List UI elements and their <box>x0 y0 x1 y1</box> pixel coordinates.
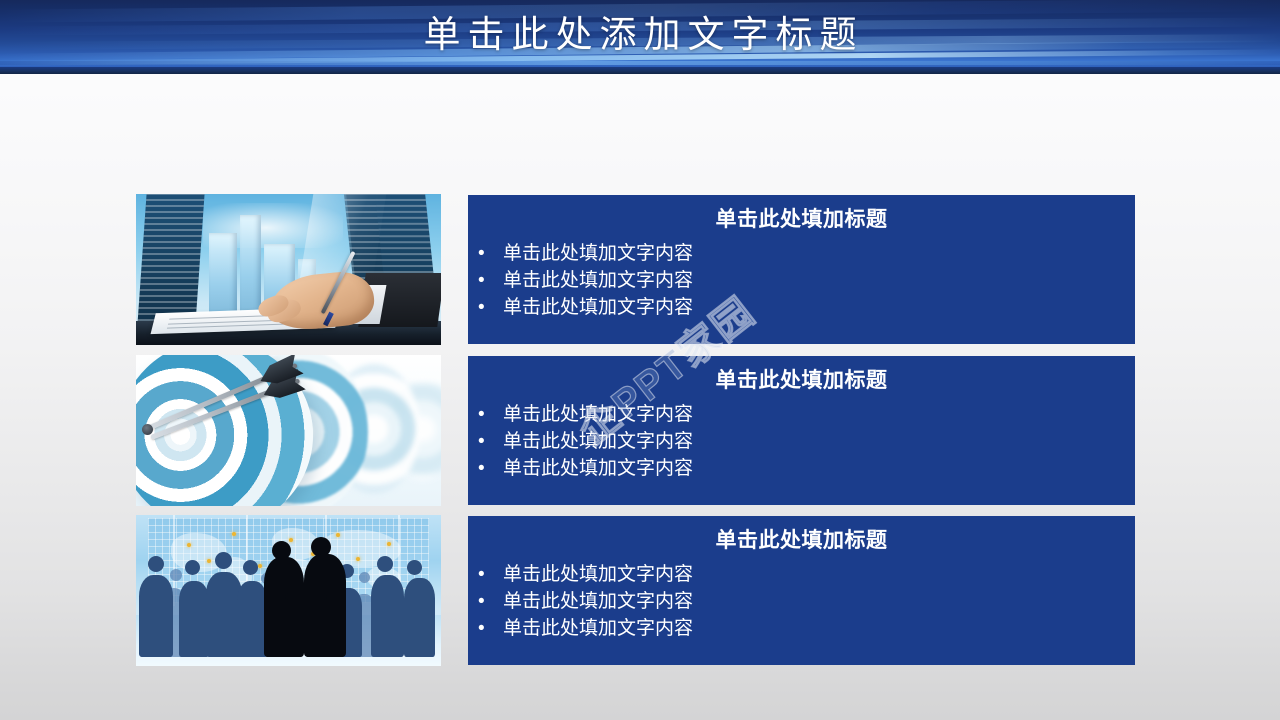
target-photo-illustration <box>136 355 441 506</box>
bullet-marker-icon: • <box>478 588 485 615</box>
bullet-marker-icon: • <box>478 428 485 455</box>
bullet-marker-icon: • <box>478 240 485 267</box>
list-item: • 单击此处填加文字内容 <box>468 240 1135 267</box>
bullet-marker-icon: • <box>478 615 485 642</box>
list-item: • 单击此处填加文字内容 <box>468 401 1135 428</box>
slide-canvas: 单击此处添加文字标题 <box>0 0 1280 720</box>
header-bottom-band <box>0 67 1280 74</box>
list-item: • 单击此处填加文字内容 <box>468 455 1135 482</box>
bullet-marker-icon: • <box>478 267 485 294</box>
skyline-photo-illustration <box>136 194 441 345</box>
panel-title: 单击此处填加标题 <box>468 367 1135 395</box>
list-item-label: 单击此处填加文字内容 <box>503 431 693 452</box>
content-row: 单击此处填加标题 • 单击此处填加文字内容 • 单击此处填加文字内容 • 单击此… <box>136 515 1135 666</box>
list-item: • 单击此处填加文字内容 <box>468 615 1135 642</box>
list-item-label: 单击此处填加文字内容 <box>503 270 693 291</box>
list-item-label: 单击此处填加文字内容 <box>503 458 693 479</box>
bullet-marker-icon: • <box>478 401 485 428</box>
content-row: 单击此处填加标题 • 单击此处填加文字内容 • 单击此处填加文字内容 • 单击此… <box>136 355 1135 506</box>
list-item: • 单击此处填加文字内容 <box>468 294 1135 321</box>
panel-bullet-list: • 单击此处填加文字内容 • 单击此处填加文字内容 • 单击此处填加文字内容 <box>468 561 1135 642</box>
bullet-marker-icon: • <box>478 561 485 588</box>
list-item-label: 单击此处填加文字内容 <box>503 564 693 585</box>
panel-bullet-list: • 单击此处填加文字内容 • 单击此处填加文字内容 • 单击此处填加文字内容 <box>468 401 1135 482</box>
content-panel[interactable]: 单击此处填加标题 • 单击此处填加文字内容 • 单击此处填加文字内容 • 单击此… <box>468 195 1135 344</box>
header-light-streak <box>0 61 1280 65</box>
list-item: • 单击此处填加文字内容 <box>468 428 1135 455</box>
list-item-label: 单击此处填加文字内容 <box>503 297 693 318</box>
row-image-arrows-target[interactable] <box>136 355 441 506</box>
bullet-marker-icon: • <box>478 455 485 482</box>
list-item-label: 单击此处填加文字内容 <box>503 618 693 639</box>
list-item: • 单击此处填加文字内容 <box>468 267 1135 294</box>
list-item: • 单击此处填加文字内容 <box>468 561 1135 588</box>
list-item-label: 单击此处填加文字内容 <box>503 404 693 425</box>
bullet-marker-icon: • <box>478 294 485 321</box>
business-people-photo-illustration <box>136 515 441 666</box>
list-item-label: 单击此处填加文字内容 <box>503 591 693 612</box>
row-image-business-people[interactable] <box>136 515 441 666</box>
content-panel[interactable]: 单击此处填加标题 • 单击此处填加文字内容 • 单击此处填加文字内容 • 单击此… <box>468 356 1135 505</box>
panel-bullet-list: • 单击此处填加文字内容 • 单击此处填加文字内容 • 单击此处填加文字内容 <box>468 240 1135 321</box>
page-title: 单击此处添加文字标题 <box>0 12 1280 58</box>
panel-title: 单击此处填加标题 <box>468 206 1135 234</box>
content-row: 单击此处填加标题 • 单击此处填加文字内容 • 单击此处填加文字内容 • 单击此… <box>136 194 1135 345</box>
panel-title: 单击此处填加标题 <box>468 527 1135 555</box>
row-image-hand-signing-document[interactable] <box>136 194 441 345</box>
content-panel[interactable]: 单击此处填加标题 • 单击此处填加文字内容 • 单击此处填加文字内容 • 单击此… <box>468 516 1135 665</box>
slide-header-banner: 单击此处添加文字标题 <box>0 0 1280 74</box>
list-item: • 单击此处填加文字内容 <box>468 588 1135 615</box>
list-item-label: 单击此处填加文字内容 <box>503 243 693 264</box>
